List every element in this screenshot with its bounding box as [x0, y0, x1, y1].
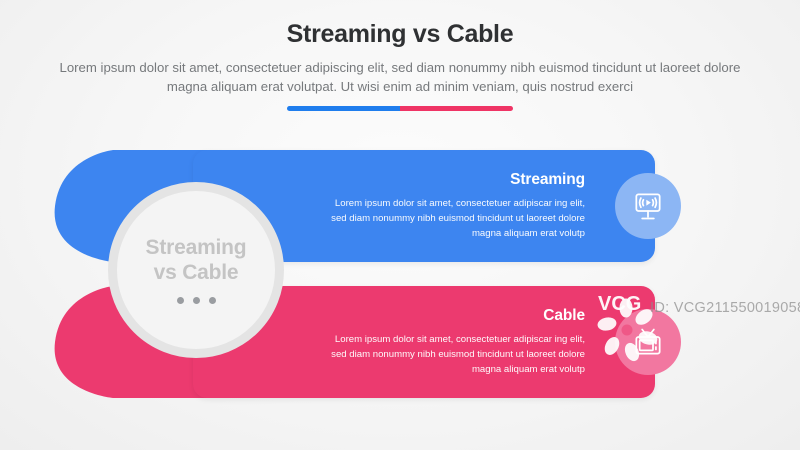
page-title: Streaming vs Cable — [0, 20, 800, 49]
panel-streaming-icon-circle[interactable] — [615, 173, 681, 239]
header: Streaming vs Cable Lorem ipsum dolor sit… — [0, 0, 800, 111]
panel-streaming-title: Streaming — [510, 171, 585, 189]
center-circle-title-line1: Streaming — [146, 236, 247, 261]
panel-streaming-content: Streaming Lorem ipsum dolor sit amet, co… — [255, 150, 585, 262]
panel-cable-content: Cable Lorem ipsum dolor sit amet, consec… — [255, 286, 585, 398]
vcg-watermark-id: ID: VCG211550019058 — [650, 300, 800, 316]
divider-left-segment — [287, 106, 400, 111]
center-dot — [177, 297, 184, 304]
center-dot — [209, 297, 216, 304]
monitor-streaming-icon — [628, 186, 668, 226]
panel-cable-title: Cable — [543, 307, 585, 325]
center-circle-title: Streaming vs Cable — [146, 236, 247, 286]
center-circle-dots — [177, 297, 216, 304]
header-divider — [287, 106, 513, 111]
panel-cable-description: Lorem ipsum dolor sit amet, consectetuer… — [325, 332, 585, 377]
vcg-watermark-text: VCG — [598, 293, 641, 315]
center-dot — [193, 297, 200, 304]
panel-streaming-description: Lorem ipsum dolor sit amet, consectetuer… — [325, 196, 585, 241]
center-circle: Streaming vs Cable — [108, 182, 284, 358]
center-circle-title-line2: vs Cable — [146, 261, 247, 286]
divider-right-segment — [400, 106, 513, 111]
page-subtitle: Lorem ipsum dolor sit amet, consectetuer… — [50, 58, 750, 96]
